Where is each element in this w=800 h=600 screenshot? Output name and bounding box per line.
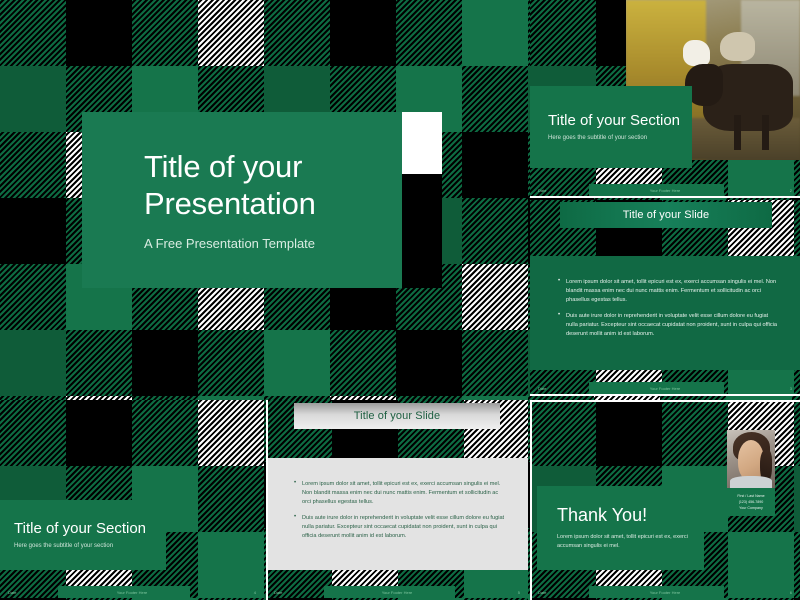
slide-title[interactable]: Title of your Presentation A Free Presen… (0, 0, 528, 398)
section-photo-title: Title of your Section (548, 113, 692, 130)
slide-content-dark[interactable]: Title of your Slide Lorem ipsum dolor si… (530, 200, 800, 396)
footer-date: Date (8, 590, 16, 595)
footer-page-number: 3 (790, 386, 792, 391)
footer-center: Your Footer Here (382, 590, 413, 595)
content-light-bullet-list: Lorem ipsum dolor sit amet, tollit epicu… (266, 458, 528, 541)
section-plain-title: Title of your Section (14, 521, 166, 538)
footer: Date Your Footer Here 6 (530, 584, 800, 600)
slide-thankyou[interactable]: First / Last Name (123) 456-7890 Your Co… (530, 400, 800, 600)
section-photo-subtitle: Here goes the subtitle of your section (548, 135, 692, 141)
thankyou-subtitle: Lorem ipsum dolor sit amet, tollit epicu… (557, 533, 704, 551)
footer: Date Your Footer Here 5 (266, 584, 528, 600)
footer-center: Your Footer Here (117, 590, 148, 595)
slide-section-plain[interactable]: Title of your Section Here goes the subt… (0, 400, 264, 600)
footer-page-number: 4 (254, 590, 256, 595)
footer-date: Date (538, 188, 546, 193)
content-dark-body: Lorem ipsum dolor sit amet, tollit epicu… (530, 256, 800, 370)
footer-center: Your Footer Here (650, 386, 681, 391)
content-light-body: Lorem ipsum dolor sit amet, tollit epicu… (266, 458, 528, 570)
title-panel: Title of your Presentation A Free Presen… (82, 112, 402, 288)
slide-section-photo[interactable]: Title of your Section Here goes the subt… (530, 0, 800, 198)
contact-name: First / Last Name (737, 494, 764, 498)
section-photo-panel: Title of your Section Here goes the subt… (530, 86, 692, 168)
footer: Date Your Footer Here 4 (0, 584, 264, 600)
contact-company: Your Company (739, 506, 763, 510)
footer-center: Your Footer Here (650, 188, 681, 193)
footer-page-number: 6 (790, 590, 792, 595)
footer-date: Date (538, 590, 546, 595)
presentation-title: Title of your Presentation (144, 149, 402, 222)
footer-page-number: 2 (790, 188, 792, 193)
slide-separator (530, 196, 800, 198)
slide-separator (266, 400, 268, 600)
slide-content-light[interactable]: Title of your Slide Lorem ipsum dolor si… (266, 400, 528, 600)
section-plain-panel: Title of your Section Here goes the subt… (0, 500, 166, 570)
presentation-subtitle: A Free Presentation Template (144, 236, 402, 251)
bullet-item: Duis aute irure dolor in reprehenderit i… (558, 312, 778, 339)
content-dark-title: Title of your Slide (623, 209, 709, 221)
bullet-item: Duis aute irure dolor in reprehenderit i… (294, 514, 506, 541)
content-light-title: Title of your Slide (354, 410, 440, 422)
slide-separator (530, 400, 532, 600)
person-portrait (727, 430, 775, 488)
bullet-item: Lorem ipsum dolor sit amet, tollit epicu… (294, 480, 506, 507)
thankyou-panel: Thank You! Lorem ipsum dolor sit amet, t… (537, 486, 704, 570)
content-dark-title-bar: Title of your Slide (560, 202, 772, 228)
footer-center: Your Footer Here (650, 590, 681, 595)
footer-page-number: 5 (518, 590, 520, 595)
contact-block: First / Last Name (123) 456-7890 Your Co… (727, 488, 775, 516)
footer-date: Date (274, 590, 282, 595)
thankyou-title: Thank You! (557, 505, 704, 526)
footer-date: Date (538, 386, 546, 391)
content-light-title-bar: Title of your Slide (294, 403, 500, 429)
section-plain-subtitle: Here goes the subtitle of your section (14, 543, 166, 549)
contact-phone: (123) 456-7890 (739, 500, 764, 504)
bullet-item: Lorem ipsum dolor sit amet, tollit epicu… (558, 278, 778, 305)
content-dark-bullet-list: Lorem ipsum dolor sit amet, tollit epicu… (530, 256, 800, 339)
slide-separator (530, 394, 800, 396)
slide-separator (530, 400, 800, 402)
